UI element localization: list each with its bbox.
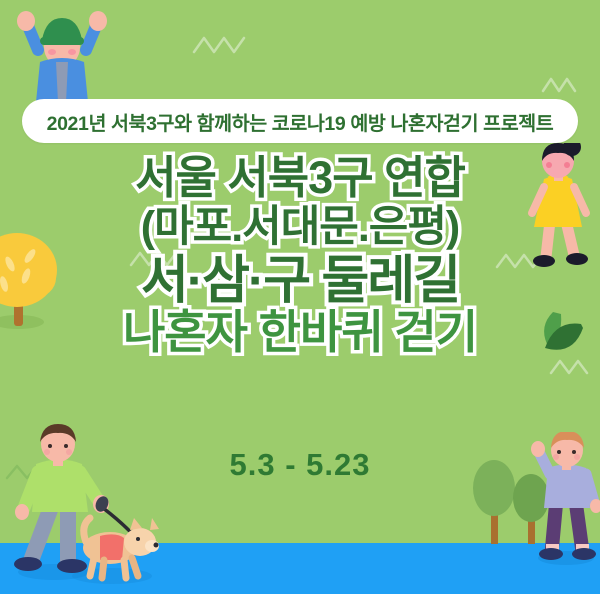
headline-line-3: 서·삼·구 둘레길	[0, 255, 600, 307]
headline-line-1: 서울 서북3구 연합	[0, 155, 600, 200]
headline-block: 서울 서북3구 연합 (마포.서대문.은평) 서·삼·구 둘레길 나혼자 한바퀴…	[0, 155, 600, 355]
event-date: 5.3 - 5.23	[0, 447, 600, 483]
headline-line-2: (마포.서대문.은평)	[0, 206, 600, 249]
poster-canvas: 2021년 서북3구와 함께하는 코로나19 예방 나혼자걷기 프로젝트 서울 …	[0, 0, 600, 594]
headline-line-4: 나혼자 한바퀴 걷기	[0, 309, 600, 355]
banner-text: 2021년 서북3구와 함께하는 코로나19 예방 나혼자걷기 프로젝트	[47, 107, 554, 136]
event-banner: 2021년 서북3구와 함께하는 코로나19 예방 나혼자걷기 프로젝트	[22, 99, 578, 143]
